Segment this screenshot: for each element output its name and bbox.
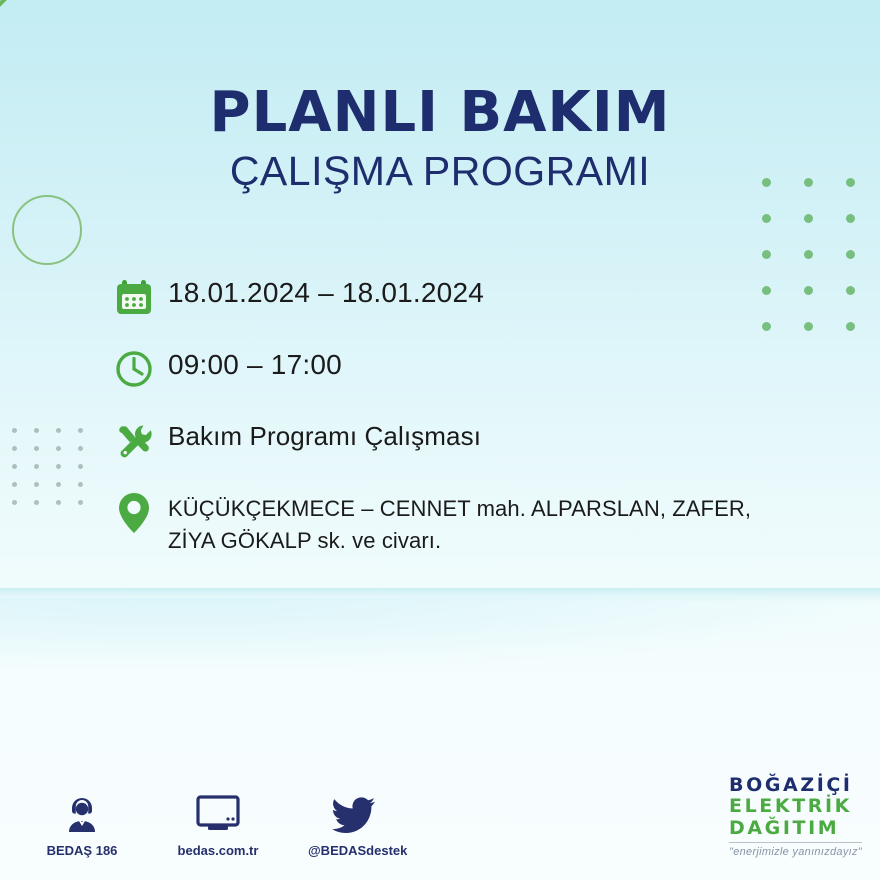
tools-icon <box>112 416 168 466</box>
brand-logo: BOĞAZİÇİ ELEKTRİK DAĞITIM "enerjimizle y… <box>729 775 862 858</box>
planned-maintenance-poster: PLANLI BAKIM ÇALIŞMA PROGRAMI 18.01.2024… <box>0 0 880 880</box>
brand-divider <box>729 842 862 843</box>
contact-twitter[interactable]: @BEDASdestek <box>308 790 400 858</box>
info-row-work-type: Bakım Programı Çalışması <box>112 416 812 466</box>
clock-icon <box>112 344 168 394</box>
dot-grid-left-decoration <box>12 428 100 518</box>
wave-glow-decoration <box>0 598 880 748</box>
info-row-date: 18.01.2024 – 18.01.2024 <box>112 272 812 322</box>
circle-outline-decoration <box>12 195 82 265</box>
contact-phone-label: BEDAŞ 186 <box>36 843 128 858</box>
footer-contacts: BEDAŞ 186 bedas.com.tr @BEDASdestek <box>36 790 400 858</box>
page-subtitle: ÇALIŞMA PROGRAMI <box>0 149 880 194</box>
info-list: 18.01.2024 – 18.01.2024 09:00 – 17:00 <box>112 272 812 557</box>
contact-phone[interactable]: BEDAŞ 186 <box>36 790 128 858</box>
contact-website[interactable]: bedas.com.tr <box>172 790 264 858</box>
poster-header: PLANLI BAKIM ÇALIŞMA PROGRAMI <box>0 84 880 194</box>
brand-line-dagitim: DAĞITIM <box>729 818 862 839</box>
brand-line-bogazici: BOĞAZİÇİ <box>729 775 862 796</box>
page-title: PLANLI BAKIM <box>0 84 880 143</box>
location-pin-icon <box>112 488 168 538</box>
work-type-text: Bakım Programı Çalışması <box>168 416 481 452</box>
call-center-agent-icon <box>36 790 128 836</box>
contact-twitter-label: @BEDASdestek <box>308 843 400 858</box>
calendar-icon <box>112 272 168 322</box>
monitor-icon <box>172 790 264 836</box>
info-row-time: 09:00 – 17:00 <box>112 344 812 394</box>
brand-line-elektrik: ELEKTRİK <box>729 796 862 817</box>
date-range-text: 18.01.2024 – 18.01.2024 <box>168 272 484 309</box>
contact-website-label: bedas.com.tr <box>172 843 264 858</box>
wave-divider-decoration <box>0 588 880 602</box>
brand-tagline: "enerjimizle yanınızdayız" <box>729 846 862 858</box>
twitter-bird-icon <box>308 790 400 836</box>
location-text: KÜÇÜKÇEKMECE – CENNET mah. ALPARSLAN, ZA… <box>168 488 788 557</box>
time-range-text: 09:00 – 17:00 <box>168 344 342 381</box>
info-row-location: KÜÇÜKÇEKMECE – CENNET mah. ALPARSLAN, ZA… <box>112 488 812 557</box>
